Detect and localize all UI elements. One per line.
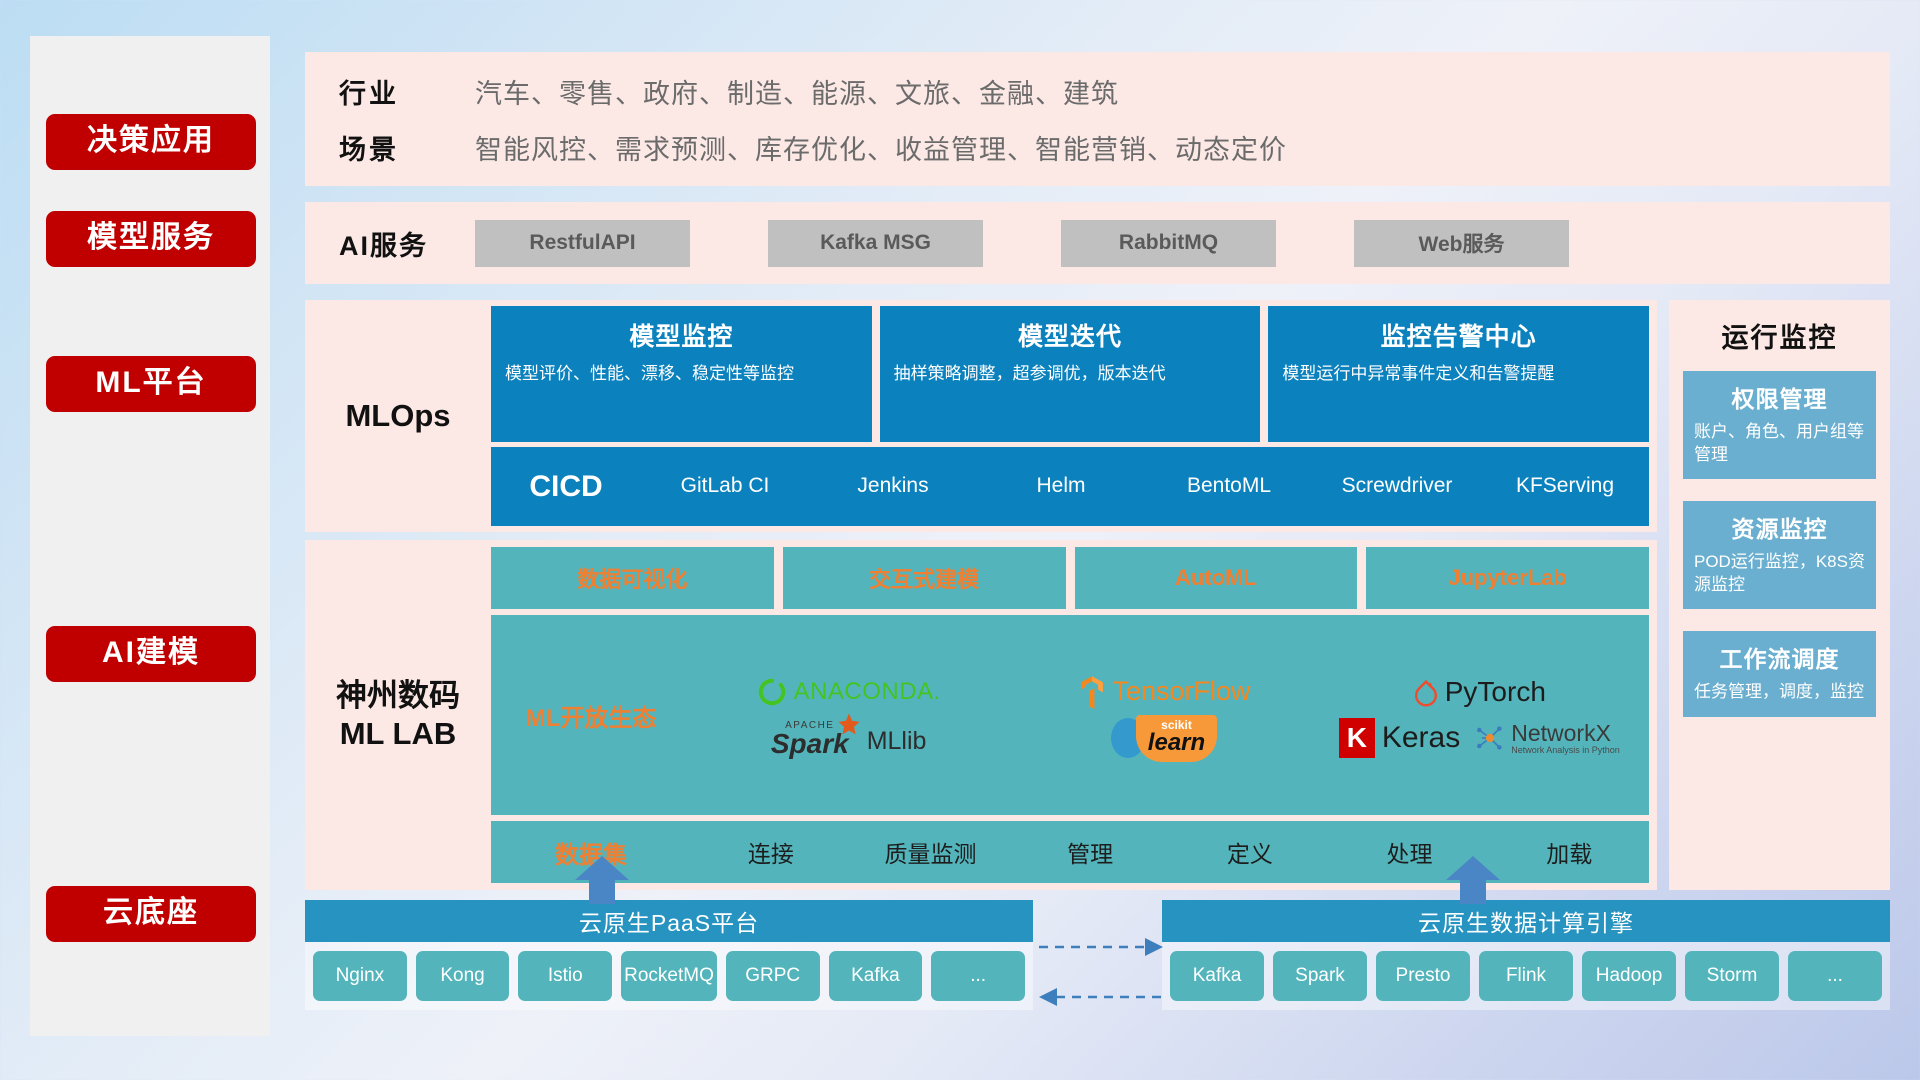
- card-desc: 模型评价、性能、漂移、稳定性等监控: [505, 362, 858, 385]
- card-title: 资源监控: [1694, 510, 1865, 544]
- up-arrow-data-engine-icon: [1444, 856, 1502, 904]
- ai-service-chip-restfulapi[interactable]: RestfulAPI: [475, 220, 690, 267]
- scikit-learn-logo: scikit learn: [1111, 715, 1217, 762]
- mllab-tool-automl[interactable]: AutoML: [1075, 547, 1358, 609]
- bidirectional-connectors: [1035, 925, 1165, 1020]
- data-chip-more[interactable]: ...: [1788, 951, 1882, 1001]
- spark-mllib-logo: APACHE Spark MLlib: [771, 720, 927, 756]
- rail-label-cloud-base[interactable]: 云底座: [46, 886, 256, 942]
- paas-title: 云原生PaaS平台: [305, 900, 1033, 942]
- ai-service-chip-web-service[interactable]: Web服务: [1354, 220, 1569, 267]
- data-engine-chip-row: Kafka Spark Presto Flink Hadoop Storm ..…: [1162, 942, 1890, 1010]
- rail-slot-0: 决策应用: [46, 114, 256, 170]
- dataset-item-manage[interactable]: 管理: [1010, 835, 1170, 869]
- scenario-value: 智能风控、需求预测、库存优化、收益管理、智能营销、动态定价: [475, 128, 1287, 167]
- dataset-item-connect[interactable]: 连接: [691, 835, 851, 869]
- paas-chip-more[interactable]: ...: [931, 951, 1025, 1001]
- scikit-orange-blob: scikit learn: [1136, 715, 1217, 762]
- card-title: 模型迭代: [894, 317, 1247, 353]
- card-desc: 抽样策略调整，超参调优，版本迭代: [894, 362, 1247, 385]
- scenario-key: 场景: [339, 128, 475, 167]
- data-chip-presto[interactable]: Presto: [1376, 951, 1470, 1001]
- mllab-tool-data-visualization[interactable]: 数据可视化: [491, 547, 774, 609]
- keras-logo: K Keras: [1339, 718, 1460, 758]
- ai-services-label: AI服务: [339, 224, 475, 263]
- card-title: 模型监控: [505, 317, 858, 353]
- monitoring-title: 运行监控: [1683, 316, 1876, 355]
- card-title: 监控告警中心: [1282, 317, 1635, 353]
- paas-chip-nginx[interactable]: Nginx: [313, 951, 407, 1001]
- mllab-tool-row: 数据可视化 交互式建模 AutoML JupyterLab: [491, 547, 1649, 609]
- networkx-logo: NetworkX Network Analysis in Python: [1474, 722, 1620, 755]
- rail-slot-1: 模型服务: [46, 211, 256, 267]
- panel-ml-lab: 神州数码 ML LAB 数据可视化 交互式建模 AutoML JupyterLa…: [305, 540, 1657, 890]
- data-chip-kafka[interactable]: Kafka: [1170, 951, 1264, 1001]
- cicd-item-jenkins[interactable]: Jenkins: [809, 473, 977, 499]
- rail-label-ai-modeling[interactable]: AI建模: [46, 626, 256, 682]
- ml-ecosystem-logo-grid: ANACONDA. TensorFlow: [691, 668, 1649, 762]
- mlops-card-alert-center[interactable]: 监控告警中心 模型运行中异常事件定义和告警提醒: [1268, 306, 1649, 442]
- mllib-wordmark: MLlib: [867, 727, 927, 756]
- learn-wordmark: learn: [1148, 732, 1205, 755]
- panel-mlops: MLOps 模型监控 模型评价、性能、漂移、稳定性等监控 模型迭代 抽样策略调整…: [305, 300, 1657, 532]
- mllab-tool-jupyterlab[interactable]: JupyterLab: [1366, 547, 1649, 609]
- card-title: 权限管理: [1694, 380, 1865, 414]
- card-desc: 账户、角色、用户组等管理: [1694, 420, 1865, 466]
- industry-value: 汽车、零售、政府、制造、能源、文旅、金融、建筑: [475, 72, 1119, 111]
- paas-chip-kafka[interactable]: Kafka: [829, 951, 923, 1001]
- mllab-label-line1: 神州数码: [305, 677, 491, 715]
- paas-chip-kong[interactable]: Kong: [416, 951, 510, 1001]
- cicd-bar: CICD GitLab CI Jenkins Helm BentoML Scre…: [491, 447, 1649, 526]
- rail-label-decision-apps[interactable]: 决策应用: [46, 114, 256, 170]
- mlops-label: MLOps: [305, 397, 491, 435]
- paas-chip-grpc[interactable]: GRPC: [726, 951, 820, 1001]
- cloud-native-data-engine-group: 云原生数据计算引擎 Kafka Spark Presto Flink Hadoo…: [1162, 900, 1890, 1010]
- panel-ai-services: AI服务 RestfulAPI Kafka MSG RabbitMQ Web服务: [305, 202, 1890, 284]
- rail-label-ml-platform[interactable]: ML平台: [46, 356, 256, 412]
- keras-wordmark: Keras: [1382, 721, 1460, 755]
- data-engine-title: 云原生数据计算引擎: [1162, 900, 1890, 942]
- mlops-card-row: 模型监控 模型评价、性能、漂移、稳定性等监控 模型迭代 抽样策略调整，超参调优，…: [491, 306, 1649, 442]
- mllab-label: 神州数码 ML LAB: [305, 677, 491, 753]
- monitor-card-workflow[interactable]: 工作流调度 任务管理，调度，监控: [1683, 631, 1876, 716]
- stack-layer-rail: 决策应用 模型服务 ML平台 AI建模 云底座: [30, 36, 270, 1036]
- mlops-card-model-iteration[interactable]: 模型迭代 抽样策略调整，超参调优，版本迭代: [880, 306, 1261, 442]
- mllab-tool-interactive-modeling[interactable]: 交互式建模: [783, 547, 1066, 609]
- cicd-item-gitlab-ci[interactable]: GitLab CI: [641, 473, 809, 499]
- mllab-label-line2: ML LAB: [305, 715, 491, 753]
- spark-star-icon: [835, 711, 863, 739]
- data-chip-storm[interactable]: Storm: [1685, 951, 1779, 1001]
- mllab-body: 数据可视化 交互式建模 AutoML JupyterLab ML开放生态 A: [491, 540, 1657, 890]
- networkx-icon: [1474, 722, 1506, 754]
- anaconda-wordmark: ANACONDA.: [794, 678, 941, 706]
- cicd-item-screwdriver[interactable]: Screwdriver: [1313, 473, 1481, 499]
- industry-key: 行业: [339, 72, 475, 111]
- pytorch-logo: PyTorch: [1413, 676, 1546, 708]
- networkx-tagline: Network Analysis in Python: [1511, 745, 1620, 755]
- card-title: 工作流调度: [1694, 640, 1865, 674]
- dataset-item-define[interactable]: 定义: [1170, 835, 1330, 869]
- pytorch-icon: [1413, 677, 1439, 707]
- anaconda-logo: ANACONDA.: [757, 677, 941, 707]
- cicd-item-kfserving[interactable]: KFServing: [1481, 473, 1649, 499]
- rail-slot-2: ML平台: [46, 356, 256, 412]
- cicd-item-bentoml[interactable]: BentoML: [1145, 473, 1313, 499]
- rail-label-model-service[interactable]: 模型服务: [46, 211, 256, 267]
- keras-mark: K: [1339, 718, 1375, 758]
- anaconda-icon: [757, 677, 787, 707]
- rail-slot-4: 云底座: [46, 886, 256, 942]
- dataset-item-row: 连接 质量监测 管理 定义 处理 加载: [691, 835, 1649, 869]
- applications-row-scenario: 场景 智能风控、需求预测、库存优化、收益管理、智能营销、动态定价: [339, 119, 1890, 175]
- mllab-ecosystem-row: ML开放生态 ANACONDA.: [491, 615, 1649, 815]
- keras-networkx-group: K Keras: [1339, 718, 1620, 758]
- monitor-card-resource[interactable]: 资源监控 POD运行监控，K8S资源监控: [1683, 501, 1876, 609]
- ai-service-chip-kafka-msg[interactable]: Kafka MSG: [768, 220, 983, 267]
- dataset-item-quality[interactable]: 质量监测: [851, 835, 1011, 869]
- ai-services-chip-row: RestfulAPI Kafka MSG RabbitMQ Web服务: [475, 220, 1569, 267]
- paas-chip-row: Nginx Kong Istio RocketMQ GRPC Kafka ...: [305, 942, 1033, 1010]
- up-arrow-paas-icon: [573, 856, 631, 904]
- tensorflow-wordmark: TensorFlow: [1112, 676, 1250, 707]
- data-chip-flink[interactable]: Flink: [1479, 951, 1573, 1001]
- networkx-wordmark: NetworkX: [1511, 722, 1620, 745]
- paas-chip-istio[interactable]: Istio: [518, 951, 612, 1001]
- data-chip-hadoop[interactable]: Hadoop: [1582, 951, 1676, 1001]
- panel-runtime-monitoring: 运行监控 权限管理 账户、角色、用户组等管理 资源监控 POD运行监控，K8S资…: [1669, 300, 1890, 890]
- data-chip-spark[interactable]: Spark: [1273, 951, 1367, 1001]
- ai-service-chip-rabbitmq[interactable]: RabbitMQ: [1061, 220, 1276, 267]
- tensorflow-icon: [1077, 675, 1107, 709]
- connector-arrow-left-head: [1039, 988, 1057, 1006]
- connector-arrow-right-head: [1145, 938, 1163, 956]
- applications-rows: 行业 汽车、零售、政府、制造、能源、文旅、金融、建筑 场景 智能风控、需求预测、…: [305, 63, 1890, 175]
- ml-ecosystem-label: ML开放生态: [491, 698, 691, 733]
- card-desc: 任务管理，调度，监控: [1694, 680, 1865, 703]
- rail-slot-3: AI建模: [46, 626, 256, 682]
- cicd-label: CICD: [491, 470, 641, 504]
- dataset-item-load[interactable]: 加载: [1489, 835, 1649, 869]
- cicd-item-row: GitLab CI Jenkins Helm BentoML Screwdriv…: [641, 473, 1649, 499]
- mlops-card-model-monitoring[interactable]: 模型监控 模型评价、性能、漂移、稳定性等监控: [491, 306, 872, 442]
- tensorflow-logo: TensorFlow: [1077, 675, 1250, 709]
- paas-chip-rocketmq[interactable]: RocketMQ: [621, 951, 717, 1001]
- cicd-item-helm[interactable]: Helm: [977, 473, 1145, 499]
- pytorch-wordmark: PyTorch: [1445, 676, 1546, 708]
- applications-row-industry: 行业 汽车、零售、政府、制造、能源、文旅、金融、建筑: [339, 63, 1890, 119]
- cloud-native-paas-group: 云原生PaaS平台 Nginx Kong Istio RocketMQ GRPC…: [305, 900, 1033, 1010]
- panel-decision-applications: 行业 汽车、零售、政府、制造、能源、文旅、金融、建筑 场景 智能风控、需求预测、…: [305, 52, 1890, 186]
- keras-k-letter: K: [1347, 722, 1367, 754]
- card-desc: POD运行监控，K8S资源监控: [1694, 550, 1865, 596]
- mlops-body: 模型监控 模型评价、性能、漂移、稳定性等监控 模型迭代 抽样策略调整，超参调优，…: [491, 300, 1657, 532]
- card-desc: 模型运行中异常事件定义和告警提醒: [1282, 362, 1635, 385]
- monitor-card-permission[interactable]: 权限管理 账户、角色、用户组等管理: [1683, 371, 1876, 479]
